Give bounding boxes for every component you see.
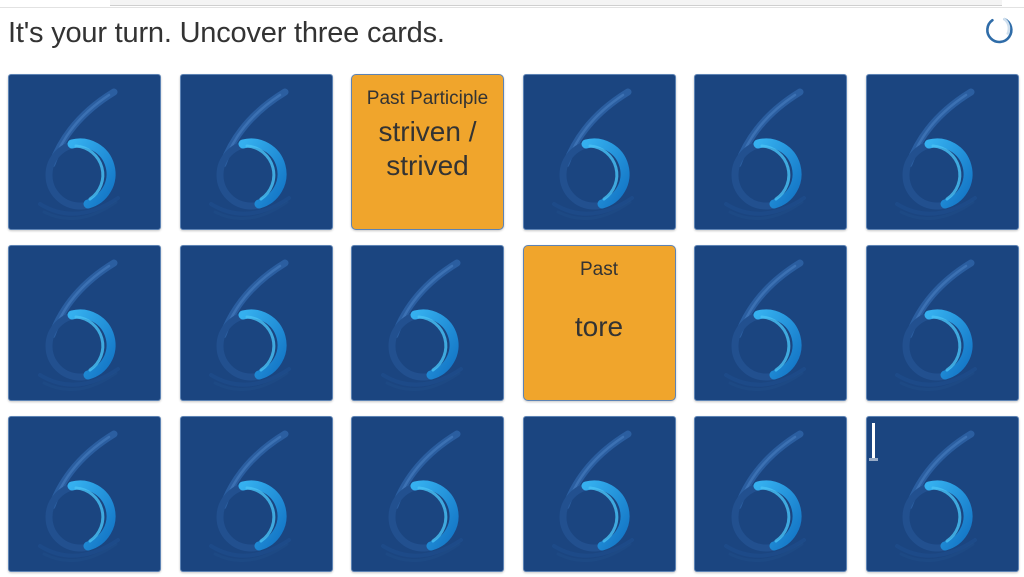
card-revealed-r2c4[interactable]: Pasttore xyxy=(523,245,676,401)
browser-chrome-strip xyxy=(0,0,1024,8)
card-tense-label: Past Participle xyxy=(352,85,503,113)
card-hidden-r2c5[interactable] xyxy=(694,245,847,401)
card-hidden-r1c6[interactable] xyxy=(866,74,1019,230)
card-back-swoosh-logo-icon xyxy=(867,418,1017,570)
card-tense-label: Past xyxy=(524,256,675,284)
card-word-label: striven / strived xyxy=(352,115,503,183)
card-revealed-r1c3[interactable]: Past Participlestriven / strived xyxy=(351,74,504,230)
card-hidden-r1c2[interactable] xyxy=(180,74,333,230)
card-back-swoosh-logo-icon xyxy=(696,247,846,399)
text-caret-cursor xyxy=(872,423,875,458)
card-back-swoosh-logo-icon xyxy=(696,418,846,570)
card-hidden-r2c1[interactable] xyxy=(8,245,161,401)
card-back-swoosh-logo-icon xyxy=(524,418,674,570)
header: It's your turn. Uncover three cards. xyxy=(0,8,1024,64)
loading-spinner-icon xyxy=(980,13,1014,47)
card-back-swoosh-logo-icon xyxy=(181,76,331,228)
card-back-swoosh-logo-icon xyxy=(10,76,160,228)
card-hidden-r3c4[interactable] xyxy=(523,416,676,572)
card-back-swoosh-logo-icon xyxy=(10,247,160,399)
card-hidden-r3c5[interactable] xyxy=(694,416,847,572)
card-hidden-r3c1[interactable] xyxy=(8,416,161,572)
card-back-swoosh-logo-icon xyxy=(10,418,160,570)
card-back-swoosh-logo-icon xyxy=(181,418,331,570)
card-back-swoosh-logo-icon xyxy=(181,247,331,399)
page-title: It's your turn. Uncover three cards. xyxy=(8,14,445,52)
card-hidden-r1c1[interactable] xyxy=(8,74,161,230)
card-hidden-r1c5[interactable] xyxy=(694,74,847,230)
browser-chrome-inner-bar xyxy=(110,0,1002,6)
card-back-swoosh-logo-icon xyxy=(524,76,674,228)
card-hidden-r2c3[interactable] xyxy=(351,245,504,401)
card-hidden-r1c4[interactable] xyxy=(523,74,676,230)
memory-card-grid: Past Participlestriven / strived xyxy=(8,74,1018,577)
card-back-swoosh-logo-icon xyxy=(867,76,1017,228)
card-hidden-r2c2[interactable] xyxy=(180,245,333,401)
card-hidden-r3c3[interactable] xyxy=(351,416,504,572)
card-word-label: tore xyxy=(524,310,675,344)
card-back-swoosh-logo-icon xyxy=(353,247,503,399)
card-hidden-r2c6[interactable] xyxy=(866,245,1019,401)
card-hidden-r3c2[interactable] xyxy=(180,416,333,572)
card-back-swoosh-logo-icon xyxy=(353,418,503,570)
card-back-swoosh-logo-icon xyxy=(696,76,846,228)
card-back-swoosh-logo-icon xyxy=(867,247,1017,399)
card-hidden-r3c6[interactable] xyxy=(866,416,1019,572)
